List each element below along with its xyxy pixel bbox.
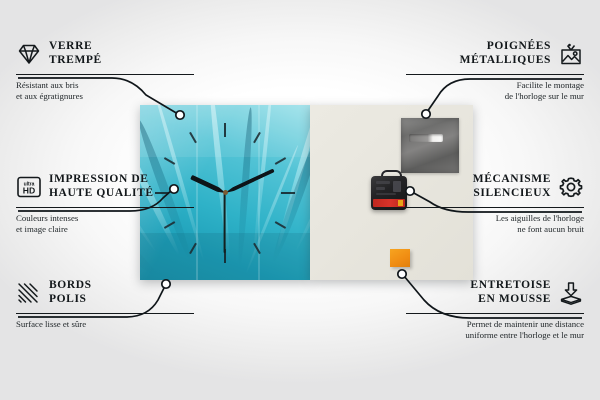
callout-header: MÉCANISME SILENCIEUX [399, 173, 584, 200]
hanger-slot [409, 134, 443, 142]
metal-hanger-plate [401, 118, 459, 173]
callout-divider [16, 207, 194, 208]
callout-divider [16, 74, 194, 75]
callout-divider [406, 313, 584, 314]
callout-title: MÉCANISME SILENCIEUX [473, 173, 551, 200]
callout-impression-haute-qualite: ultra HD IMPRESSION DE HAUTE QUALITÉ Cou… [16, 173, 201, 234]
callout-header: BORDS POLIS [16, 279, 201, 306]
clock-hand-cap [223, 190, 228, 195]
callout-description: Couleurs intenses et image claire [16, 213, 201, 234]
callout-description: Permet de maintenir une distance uniform… [399, 319, 584, 340]
hanging-frame-icon [558, 42, 584, 66]
callout-title: IMPRESSION DE HAUTE QUALITÉ [49, 173, 154, 200]
callout-bords-polis: BORDS POLIS Surface lisse et sûre [16, 279, 201, 330]
callout-description: Facilite le montage de l'horloge sur le … [399, 80, 584, 101]
callout-entretoise-en-mousse: ENTRETOISE EN MOUSSE Permet de maintenir… [399, 279, 584, 340]
callout-poignees-metalliques: POIGNÉES MÉTALLIQUES Facilite le montage… [399, 40, 584, 101]
callout-header: ultra HD IMPRESSION DE HAUTE QUALITÉ [16, 173, 201, 200]
svg-text:HD: HD [23, 185, 35, 195]
clock-second-hand [224, 193, 226, 253]
callout-header: POIGNÉES MÉTALLIQUES [399, 40, 584, 67]
polished-edge-icon [16, 281, 42, 305]
press-down-pad-icon [558, 281, 584, 305]
ultra-hd-icon: ultra HD [16, 175, 42, 199]
callout-title: BORDS POLIS [49, 279, 92, 306]
infographic-canvas: VERRE TREMPÉ Résistant aux bris et aux é… [0, 0, 600, 400]
callout-mecanisme-silencieux: MÉCANISME SILENCIEUX Les aiguilles de l'… [399, 173, 584, 234]
callout-title: POIGNÉES MÉTALLIQUES [460, 40, 551, 67]
gear-icon [558, 175, 584, 199]
callout-description: Les aiguilles de l'horloge ne font aucun… [399, 213, 584, 234]
callout-title: ENTRETOISE EN MOUSSE [470, 279, 551, 306]
callout-description: Résistant aux bris et aux égratignures [16, 80, 201, 101]
callout-header: VERRE TREMPÉ [16, 40, 201, 67]
diamond-icon [16, 42, 42, 66]
callout-divider [406, 74, 584, 75]
callout-verre-trempe: VERRE TREMPÉ Résistant aux bris et aux é… [16, 40, 201, 101]
callout-header: ENTRETOISE EN MOUSSE [399, 279, 584, 306]
foam-spacer [390, 249, 410, 267]
callout-divider [406, 207, 584, 208]
callout-divider [16, 313, 194, 314]
callout-title: VERRE TREMPÉ [49, 40, 102, 67]
callout-description: Surface lisse et sûre [16, 319, 201, 329]
